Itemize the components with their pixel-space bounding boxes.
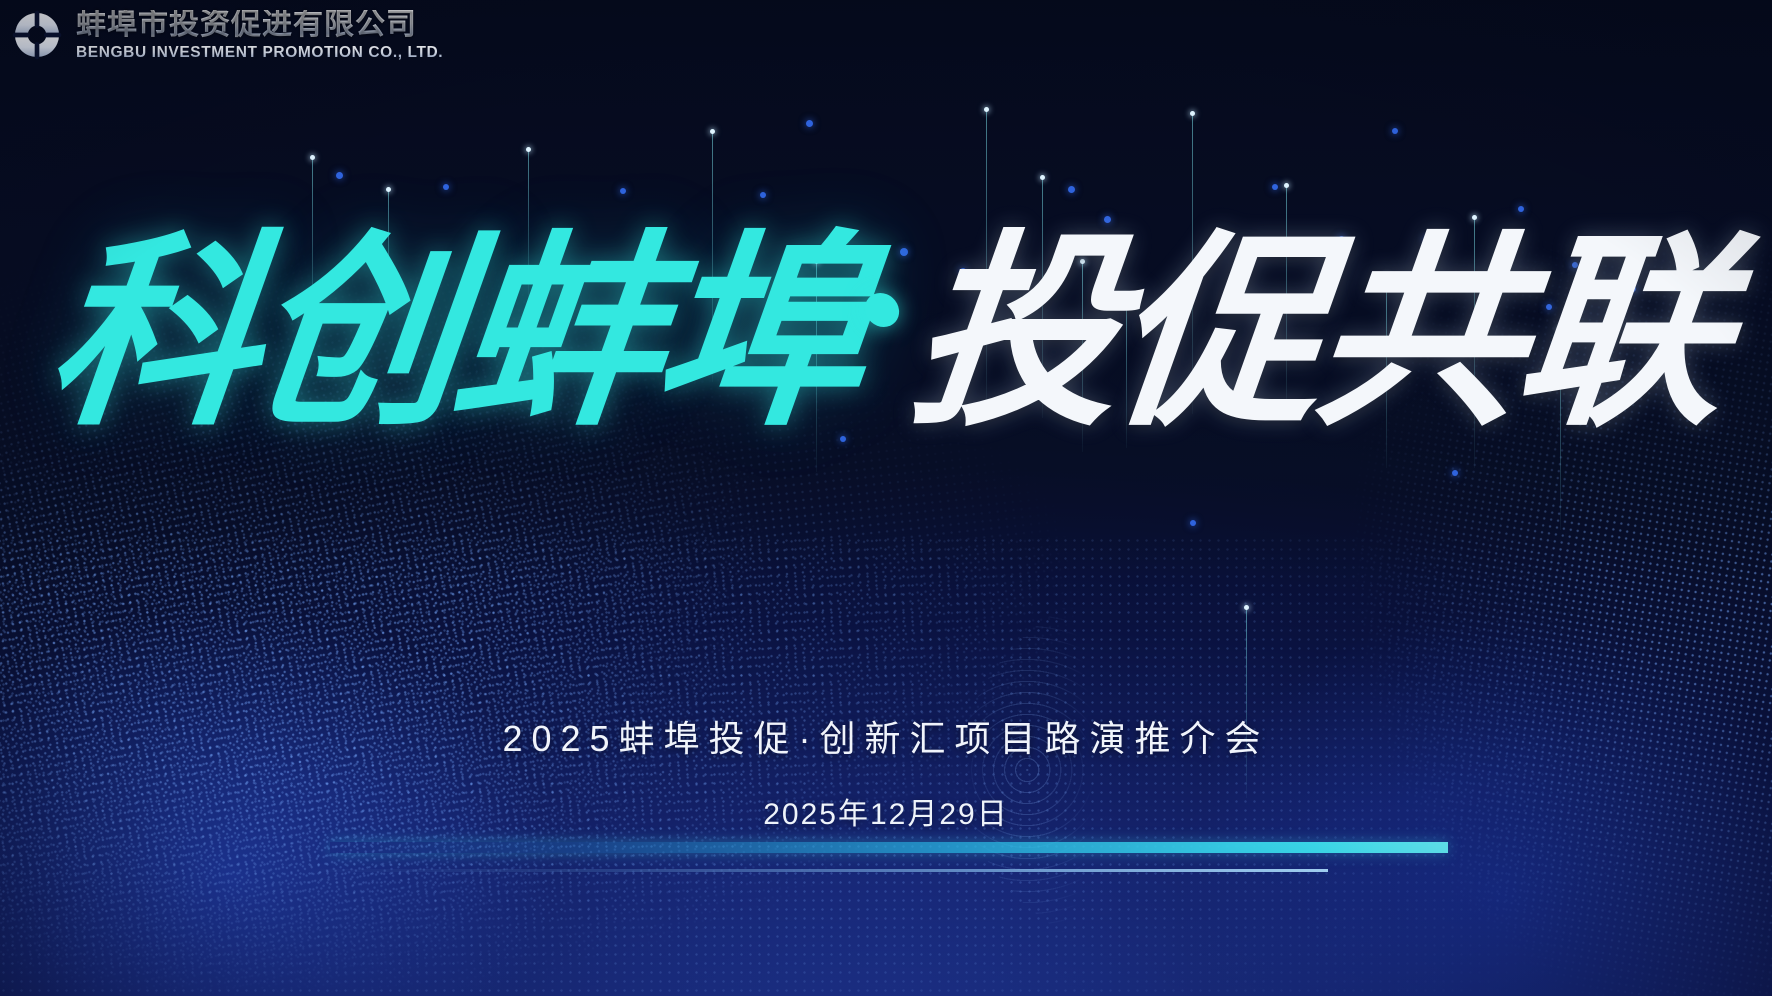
- vignette-overlay: [0, 0, 1772, 996]
- poster-stage: 蚌埠市投资促进有限公司 BENGBU INVESTMENT PROMOTION …: [0, 0, 1772, 996]
